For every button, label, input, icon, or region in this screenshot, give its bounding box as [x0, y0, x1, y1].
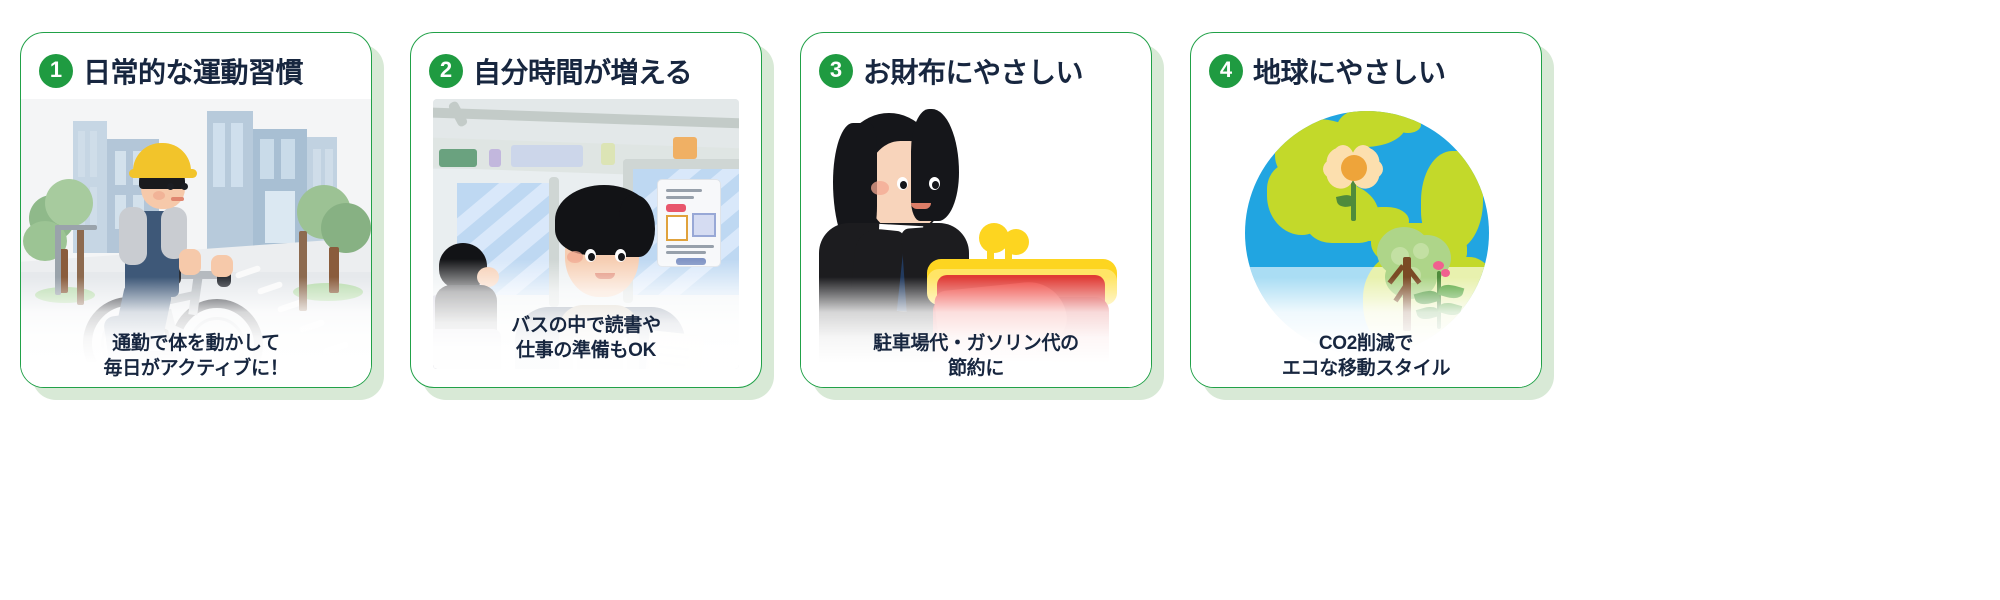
- caption-line-2: 毎日がアクティブに！: [21, 356, 371, 381]
- card-header: 2 自分時間が増える: [411, 33, 761, 99]
- card-caption: バスの中で読書や 仕事の準備もOK: [433, 313, 739, 363]
- card-header: 3 お財布にやさしい: [801, 33, 1151, 99]
- card-number-badge: 1: [39, 54, 73, 88]
- benefit-cards-row: 1 日常的な運動習慣: [0, 0, 2000, 600]
- benefit-card-3[interactable]: 3 お財布にやさしい: [800, 32, 1152, 388]
- caption-line-1: 駐車場代・ガソリン代の: [801, 331, 1151, 356]
- earth-globe-with-flower-and-tree-illustration: CO2削減で エコな移動スタイル: [1191, 99, 1541, 387]
- card-title: 地球にやさしい: [1253, 51, 1446, 91]
- card-number-badge: 4: [1209, 54, 1243, 88]
- card-caption: CO2削減で エコな移動スタイル: [1191, 331, 1541, 381]
- card-caption: 通勤で体を動かして 毎日がアクティブに！: [21, 331, 371, 381]
- benefit-card-4[interactable]: 4 地球にやさしい: [1190, 32, 1542, 388]
- card-caption: 駐車場代・ガソリン代の 節約に: [801, 331, 1151, 381]
- woman-with-red-purse-illustration: 駐車場代・ガソリン代の 節約に: [801, 99, 1151, 387]
- caption-line-1: バスの中で読書や: [433, 313, 739, 338]
- card-number-badge: 3: [819, 54, 853, 88]
- man-reading-on-bus-illustration: バスの中で読書や 仕事の準備もOK: [433, 99, 739, 369]
- card-title: 日常的な運動習慣: [83, 51, 303, 91]
- caption-line-1: 通勤で体を動かして: [21, 331, 371, 356]
- caption-line-2: 節約に: [801, 356, 1151, 381]
- card-number-badge: 2: [429, 54, 463, 88]
- benefit-card-2[interactable]: 2 自分時間が増える: [410, 32, 762, 388]
- card-header: 1 日常的な運動習慣: [21, 33, 371, 99]
- cyclist-commuting-illustration: 通勤で体を動かして 毎日がアクティブに！: [21, 99, 371, 387]
- caption-line-1: CO2削減で: [1191, 331, 1541, 356]
- benefit-card-1[interactable]: 1 日常的な運動習慣: [20, 32, 372, 388]
- card-header: 4 地球にやさしい: [1191, 33, 1541, 99]
- card-title: お財布にやさしい: [863, 51, 1083, 91]
- caption-line-2: エコな移動スタイル: [1191, 356, 1541, 381]
- caption-line-2: 仕事の準備もOK: [433, 338, 739, 363]
- card-title: 自分時間が増える: [473, 51, 692, 91]
